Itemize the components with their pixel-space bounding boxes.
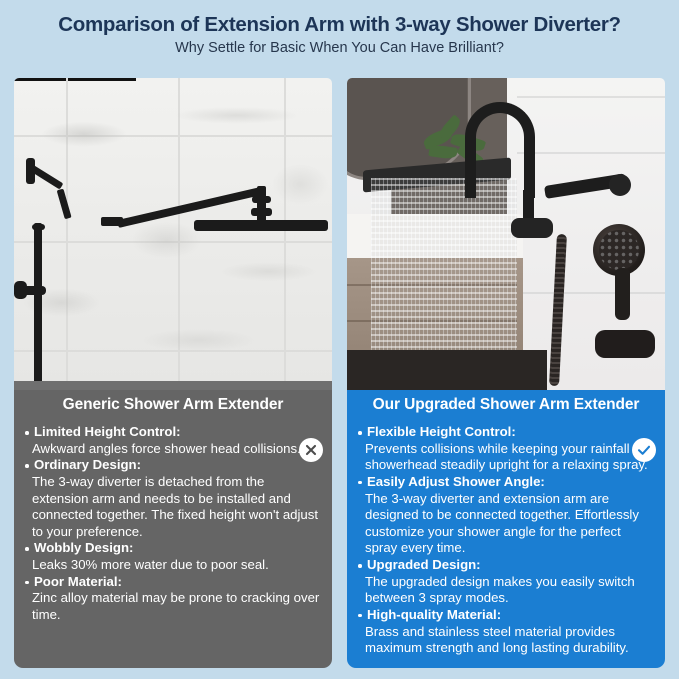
feature-description: The upgraded design makes you easily swi… <box>365 574 656 607</box>
feature-title: Easily Adjust Shower Angle: <box>367 474 656 491</box>
feature-description: Brass and stainless steel material provi… <box>365 624 656 657</box>
side-arm-cap <box>609 174 631 196</box>
feature-list-upgraded: Flexible Height Control: Prevents collis… <box>356 424 656 657</box>
feature-title: Flexible Height Control: <box>367 424 656 441</box>
feature-title: Upgraded Design: <box>367 557 656 574</box>
rainfall-showerhead <box>194 220 328 231</box>
gooseneck-extension-arm <box>465 102 535 198</box>
marble-texture <box>14 78 332 390</box>
comparison-column-generic: Generic Shower Arm Extender Limited Heig… <box>14 78 332 668</box>
column-label-generic: Generic Shower Arm Extender <box>63 396 284 414</box>
list-item: Wobbly Design: Leaks 30% more water due … <box>23 540 323 573</box>
feature-description: Prevents collisions while keeping your r… <box>365 441 656 474</box>
feature-title: Poor Material: <box>34 574 323 591</box>
list-item: Ordinary Design: The 3-way diverter is d… <box>23 457 323 540</box>
list-item: Limited Height Control: Awkward angles f… <box>23 424 323 457</box>
feature-panel-upgraded: Flexible Height Control: Prevents collis… <box>347 420 665 668</box>
handheld-showerhead-face <box>599 230 639 270</box>
feature-title: Ordinary Design: <box>34 457 323 474</box>
column-label-bar-generic: Generic Shower Arm Extender <box>14 390 332 420</box>
generic-shower-arm-photo <box>14 78 332 390</box>
upgraded-shower-arm-photo <box>347 78 665 390</box>
arm-drop <box>257 186 266 224</box>
shower-hose <box>549 234 567 386</box>
feature-description: Awkward angles force shower head collisi… <box>32 441 323 458</box>
feature-list-generic: Limited Height Control: Awkward angles f… <box>23 424 323 624</box>
feature-title: High-quality Material: <box>367 607 656 624</box>
page-subtitle: Why Settle for Basic When You Can Have B… <box>0 40 679 57</box>
column-label-bar-upgraded: Our Upgraded Shower Arm Extender <box>347 390 665 420</box>
shower-bracket <box>595 330 655 358</box>
page-title: Comparison of Extension Arm with 3-way S… <box>0 13 679 37</box>
column-label-upgraded: Our Upgraded Shower Arm Extender <box>373 396 640 414</box>
feature-title: Wobbly Design: <box>34 540 323 557</box>
list-item: Poor Material: Zinc alloy material may b… <box>23 574 323 624</box>
handheld-handle <box>615 268 630 320</box>
header: Comparison of Extension Arm with 3-way S… <box>0 0 679 58</box>
feature-description: The 3-way diverter and extension arm are… <box>365 491 656 558</box>
feature-title: Limited Height Control: <box>34 424 323 441</box>
hand-spray-wand <box>36 226 41 266</box>
feature-description: The 3-way diverter is detached from the … <box>32 474 323 541</box>
floor-strip <box>14 381 332 390</box>
list-item: Flexible Height Control: Prevents collis… <box>356 424 656 474</box>
list-item: Easily Adjust Shower Angle: The 3-way di… <box>356 474 656 557</box>
feature-panel-generic: Limited Height Control: Awkward angles f… <box>14 420 332 668</box>
hand-spray-head <box>32 224 45 230</box>
comparison-columns: Generic Shower Arm Extender Limited Heig… <box>0 78 679 668</box>
floor-band <box>347 350 547 390</box>
slide-knob <box>14 281 27 299</box>
comparison-column-upgraded: Our Upgraded Shower Arm Extender Flexibl… <box>347 78 665 668</box>
feature-description: Leaks 30% more water due to poor seal. <box>32 557 323 574</box>
list-item: High-quality Material: Brass and stainle… <box>356 607 656 657</box>
feature-description: Zinc alloy material may be prone to crac… <box>32 590 323 623</box>
three-way-diverter <box>511 218 553 238</box>
list-item: Upgraded Design: The upgraded design mak… <box>356 557 656 607</box>
